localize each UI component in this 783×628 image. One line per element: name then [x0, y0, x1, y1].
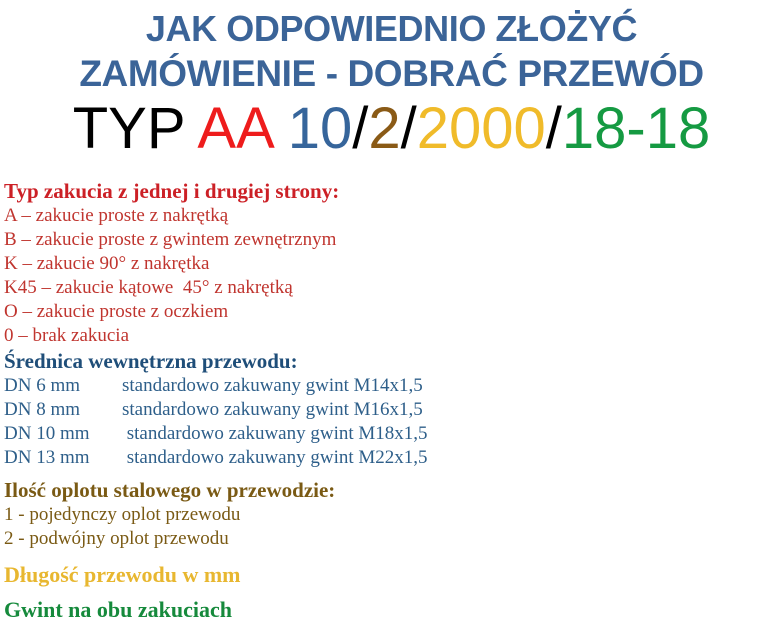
- code-segment-4: 2: [368, 96, 400, 161]
- infographic-page: JAK ODPOWIEDNIO ZŁOŻYĆ ZAMÓWIENIE - DOBR…: [0, 0, 783, 628]
- dn-note-1: standardowo zakuwany gwint M16x1,5: [122, 399, 423, 420]
- zakucia-line-5: 0 – brak zakucia: [4, 324, 339, 348]
- dn-row-3: DN 13 mm standardowo zakuwany gwint M22x…: [4, 446, 428, 470]
- zakucia-line-1: B – zakucie proste z gwintem zewnętrznym: [4, 228, 339, 252]
- dn-label-3: DN 13 mm: [4, 446, 122, 470]
- zakucia-line-2: K – zakucie 90° z nakrętka: [4, 252, 339, 276]
- section-lines-oplot: 1 - pojedynczy oplot przewodu2 - podwójn…: [4, 503, 335, 551]
- code-segment-0: TYP: [73, 96, 198, 161]
- code-segment-7: /: [546, 96, 562, 161]
- dn-label-1: DN 8 mm: [4, 398, 122, 422]
- zakucia-line-3: K45 – zakucie kątowe 45° z nakrętką: [4, 276, 339, 300]
- dn-note-3: standardowo zakuwany gwint M22x1,5: [122, 447, 428, 468]
- title-line-1: JAK ODPOWIEDNIO ZŁOŻYĆ: [0, 8, 783, 50]
- section-oplot: Ilość oplotu stalowego w przewodzie: 1 -…: [4, 477, 335, 551]
- section-lines-typ-zakucia: A – zakucie proste z nakrętkąB – zakucie…: [4, 204, 339, 348]
- code-segment-1: AA: [197, 96, 287, 161]
- dn-note-2: standardowo zakuwany gwint M18x1,5: [122, 423, 428, 444]
- code-segment-8: 18-18: [562, 96, 710, 161]
- code-segment-3: /: [352, 96, 368, 161]
- dn-row-0: DN 6 mmstandardowo zakuwany gwint M14x1,…: [4, 374, 428, 398]
- dn-label-0: DN 6 mm: [4, 374, 122, 398]
- section-dlugosc: Długość przewodu w mm: [4, 562, 241, 588]
- section-typ-zakucia: Typ zakucia z jednej i drugiej strony: A…: [4, 178, 339, 348]
- oplot-line-1: 2 - podwójny oplot przewodu: [4, 527, 335, 551]
- dn-row-2: DN 10 mm standardowo zakuwany gwint M18x…: [4, 422, 428, 446]
- code-segment-6: 2000: [417, 96, 546, 161]
- title-line-2: ZAMÓWIENIE - DOBRAĆ PRZEWÓD: [0, 53, 783, 95]
- product-code-line: TYP AA 10/2/2000/18-18: [0, 100, 783, 158]
- code-segment-2: 10: [288, 96, 353, 161]
- code-segment-5: /: [401, 96, 417, 161]
- section-rows-srednica: DN 6 mmstandardowo zakuwany gwint M14x1,…: [4, 374, 428, 470]
- oplot-line-0: 1 - pojedynczy oplot przewodu: [4, 503, 335, 527]
- zakucia-line-0: A – zakucie proste z nakrętką: [4, 204, 339, 228]
- dn-label-2: DN 10 mm: [4, 422, 122, 446]
- zakucia-line-4: O – zakucie proste z oczkiem: [4, 300, 339, 324]
- section-heading-typ-zakucia: Typ zakucia z jednej i drugiej strony:: [4, 178, 339, 204]
- section-heading-oplot: Ilość oplotu stalowego w przewodzie:: [4, 477, 335, 503]
- section-gwint: Gwint na obu zakuciach: [4, 597, 232, 623]
- section-heading-srednica: Średnica wewnętrzna przewodu:: [4, 348, 428, 374]
- section-heading-gwint: Gwint na obu zakuciach: [4, 597, 232, 623]
- dn-note-0: standardowo zakuwany gwint M14x1,5: [122, 375, 423, 396]
- section-srednica: Średnica wewnętrzna przewodu: DN 6 mmsta…: [4, 348, 428, 470]
- section-heading-dlugosc: Długość przewodu w mm: [4, 562, 241, 588]
- dn-row-1: DN 8 mmstandardowo zakuwany gwint M16x1,…: [4, 398, 428, 422]
